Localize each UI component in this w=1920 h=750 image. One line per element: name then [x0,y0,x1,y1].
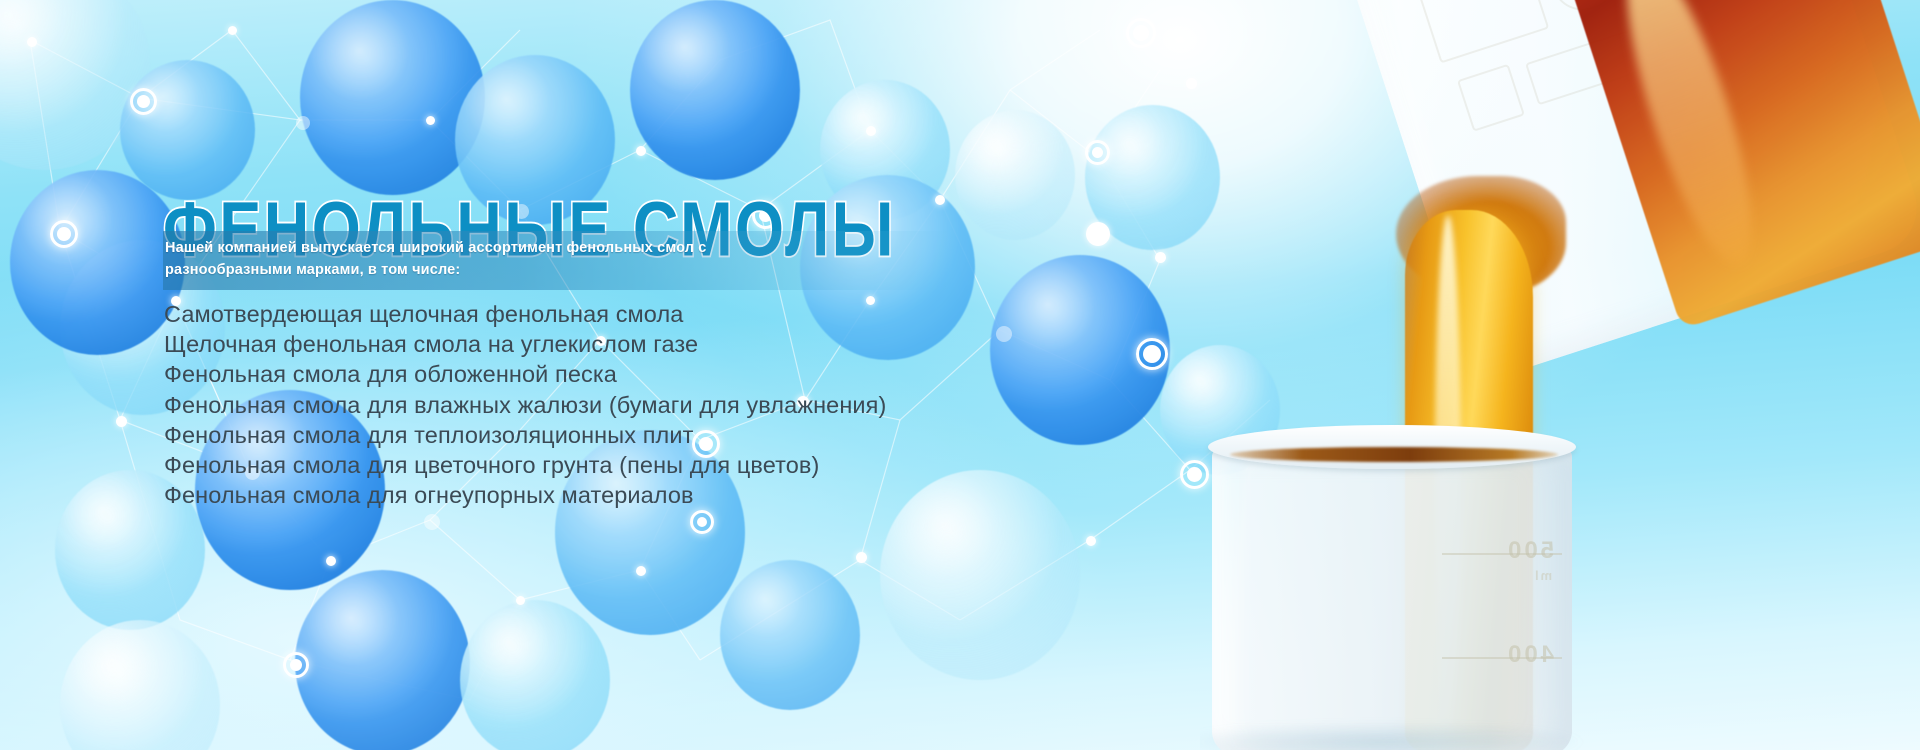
graduated-beaker-body [1212,447,1572,750]
network-node [1086,536,1096,546]
list-item[interactable]: Фенольная смола для огнеупорных материал… [164,480,886,510]
promo-banner: 500 ml 400 ФЕНОЛЬНЫЕ СМОЛЫ Нашей компани… [0,0,1920,750]
network-node [1155,252,1166,263]
list-item[interactable]: Фенольная смола для обложенной песка [164,359,886,389]
graduation-label-400: 400 [1505,641,1554,669]
beaker-illustration: 500 ml 400 [1200,0,1920,750]
banner-content: ФЕНОЛЬНЫЕ СМОЛЫ Нашей компанией выпускае… [0,0,1000,750]
network-node-ring [1136,338,1168,370]
intro-paragraph: Нашей компанией выпускается широкий ассо… [165,237,805,282]
pouring-beaker [1308,0,1920,383]
graduation-label-500: 500 [1505,537,1554,565]
graduated-beaker: 500 ml 400 [1212,425,1572,750]
beaker-shadow [1200,723,1582,750]
list-item[interactable]: Фенольная смола для теплоизоляционных пл… [164,420,886,450]
network-node [1086,222,1110,246]
list-item[interactable]: Фенольная смола для цветочного грунта (п… [164,450,886,480]
intro-line-2: разнообразными марками, в том числе: [165,259,805,281]
list-item[interactable]: Щелочная фенольная смола на углекислом г… [164,329,886,359]
network-node-ring [1085,140,1110,165]
list-item[interactable]: Фенольная смола для влажных жалюзи (бума… [164,390,886,420]
network-node [1186,78,1197,89]
intro-line-1: Нашей компанией выпускается широкий ассо… [165,237,805,259]
list-item[interactable]: Самотвердеющая щелочная фенольная смола [164,299,886,329]
graduated-beaker-rim-liquid [1230,447,1558,462]
network-node-ring [1126,18,1156,48]
graduation-unit: ml [1533,568,1552,583]
product-list: Самотвердеющая щелочная фенольная смола … [164,299,886,510]
molecule-sphere [990,255,1170,445]
